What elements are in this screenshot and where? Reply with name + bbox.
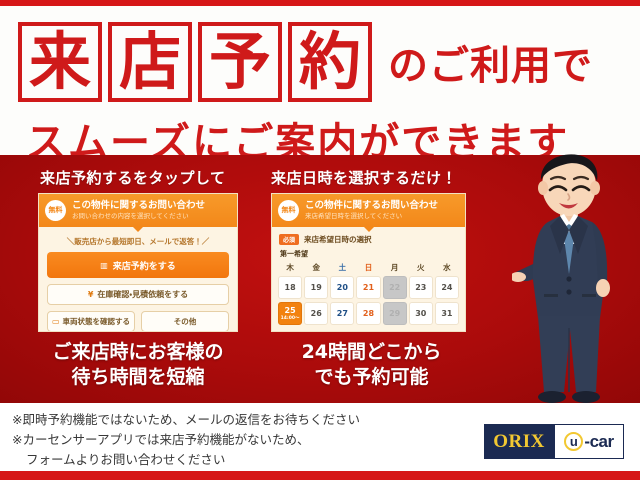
section-title-right: 来店日時を選択するだけ！ <box>271 167 457 188</box>
calendar-day-19[interactable]: 19 <box>304 276 328 299</box>
stock-quote-button[interactable]: ¥ 在庫確認・見積依頼をする <box>47 284 229 305</box>
vehicle-condition-button[interactable]: ▭ 車両状態を確認する <box>47 311 135 332</box>
inquiry-header-title: この物件に関するお問い合わせ <box>72 200 231 212</box>
footnote-3: フォームよりお問い合わせください <box>12 450 462 470</box>
calendar-header-subtitle: 来店希望日時を選択してください <box>305 212 459 221</box>
benefit-caption-right: 24時間どこから でも予約可能 <box>264 340 479 390</box>
benefit-caption-left-line1: ご来店時にお客様の <box>18 340 258 365</box>
calendar-day-25[interactable]: 2514:00〜 <box>278 302 302 325</box>
footnote-1: ※即時予約機能ではないため、メールの返信をお待ちください <box>12 410 462 430</box>
vehicle-condition-label: 車両状態を確認する <box>63 316 131 327</box>
dow-tue: 火 <box>409 262 433 273</box>
yen-icon: ¥ <box>88 290 94 299</box>
dow-sat: 土 <box>330 262 354 273</box>
footnote-2: ※カーセンサーアプリでは来店予約機能がないため、 <box>12 430 462 450</box>
secondary-button-row: ▭ 車両状態を確認する その他 <box>47 311 229 332</box>
inquiry-form-mockup: 無料 この物件に関するお問い合わせ お問い合わせの内容を選択してください ＼販売… <box>38 193 238 332</box>
calendar-week-row: 2514:00〜262728293031 <box>272 299 465 325</box>
advertisement-banner: 来 店 予 約 のご利用で スムーズにご案内ができます 来店予約するをタップして… <box>0 0 640 480</box>
calendar-day-time: 14:00〜 <box>281 316 300 321</box>
u-circle-icon: u <box>564 432 583 451</box>
calendar-day-24[interactable]: 24 <box>435 276 459 299</box>
calendar-week-row: 18192021222324 <box>272 273 465 299</box>
calendar-day-number: 22 <box>389 283 400 292</box>
calendar-day-number: 25 <box>285 306 296 315</box>
calendar-header-title: この物件に関するお問い合わせ <box>305 200 459 212</box>
calendar-day-number: 23 <box>415 283 426 292</box>
calendar-day-31[interactable]: 31 <box>435 302 459 325</box>
dow-thu: 木 <box>278 262 302 273</box>
header-notch-icon <box>133 227 143 232</box>
calendar-day-18[interactable]: 18 <box>278 276 302 299</box>
header-area: 来 店 予 約 のご利用で スムーズにご案内ができます <box>0 6 640 155</box>
store-icon: ▥ <box>100 261 108 270</box>
dow-mon: 月 <box>383 262 407 273</box>
calendar-day-number: 30 <box>415 309 426 318</box>
dow-sun: 日 <box>356 262 380 273</box>
kanji-box-2: 店 <box>108 22 192 102</box>
headline-tail: のご利用で <box>388 33 593 91</box>
calendar-day-number: 27 <box>337 309 348 318</box>
calendar-day-number: 24 <box>441 283 452 292</box>
kanji-box-1: 来 <box>18 22 102 102</box>
orix-wordmark: ORIX <box>484 424 554 459</box>
calendar-card-header: 無料 この物件に関するお問い合わせ 来店希望日時を選択してください <box>272 194 465 227</box>
bottom-accent-bar <box>0 471 640 480</box>
inquiry-header-subtitle: お問い合わせの内容を選択してください <box>72 212 231 221</box>
calendar-mockup: 無料 この物件に関するお問い合わせ 来店希望日時を選択してください 必須 来店希… <box>271 193 466 332</box>
dow-wed: 水 <box>435 262 459 273</box>
free-badge: 無料 <box>278 200 299 221</box>
calendar-day-26[interactable]: 26 <box>304 302 328 325</box>
orix-ucar-logo: ORIX u -car <box>484 424 624 459</box>
calendar-day-21[interactable]: 21 <box>356 276 380 299</box>
benefit-caption-right-line2: でも予約可能 <box>264 365 479 390</box>
inquiry-card-header: 無料 この物件に関するお問い合わせ お問い合わせの内容を選択してください <box>39 194 237 227</box>
required-badge: 必須 <box>279 234 299 245</box>
calendar-day-number: 29 <box>389 309 400 318</box>
free-badge: 無料 <box>45 200 66 221</box>
benefit-caption-right-line1: 24時間どこから <box>264 340 479 365</box>
stock-quote-label: 在庫確認・見積依頼をする <box>97 289 188 300</box>
kanji-box-4: 約 <box>288 22 372 102</box>
calendar-day-23[interactable]: 23 <box>409 276 433 299</box>
calendar-day-number: 20 <box>337 283 348 292</box>
calendar-day-number: 26 <box>311 309 322 318</box>
calendar-day-number: 28 <box>363 309 374 318</box>
calendar-day-number: 21 <box>363 283 374 292</box>
calendar-day-28[interactable]: 28 <box>356 302 380 325</box>
calendar-day-20[interactable]: 20 <box>330 276 354 299</box>
header-notch-icon <box>364 227 374 232</box>
calendar-day-27[interactable]: 27 <box>330 302 354 325</box>
calendar-day-22: 22 <box>383 276 407 299</box>
benefit-caption-left: ご来店時にお客様の 待ち時間を短縮 <box>18 340 258 390</box>
car-text: -car <box>584 432 613 452</box>
kanji-box-3: 予 <box>198 22 282 102</box>
calendar-day-30[interactable]: 30 <box>409 302 433 325</box>
calendar-day-number: 19 <box>311 283 322 292</box>
calendar-day-29: 29 <box>383 302 407 325</box>
car-icon: ▭ <box>52 317 60 326</box>
benefit-caption-left-line2: 待ち時間を短縮 <box>18 365 258 390</box>
reserve-visit-button[interactable]: ▥ 来店予約をする <box>47 252 229 278</box>
other-label: その他 <box>174 316 197 327</box>
calendar-day-number: 31 <box>441 309 452 318</box>
preference-label: 第一希望 <box>272 245 465 259</box>
headline-kanji-row: 来 店 予 約 のご利用で <box>18 22 593 102</box>
other-button[interactable]: その他 <box>141 311 229 332</box>
reserve-visit-label: 来店予約をする <box>113 259 176 272</box>
footnotes: ※即時予約機能ではないため、メールの返信をお待ちください ※カーセンサーアプリで… <box>12 410 462 470</box>
section-title-left: 来店予約するをタップして <box>40 167 226 188</box>
day-of-week-header: 木 金 土 日 月 火 水 <box>272 259 465 273</box>
salesman-illustration <box>512 148 624 406</box>
calendar-day-number: 18 <box>285 283 296 292</box>
dow-fri: 金 <box>304 262 328 273</box>
calendar-label: 来店希望日時の選択 <box>304 234 372 245</box>
ucar-wordmark: u -car <box>554 424 624 459</box>
